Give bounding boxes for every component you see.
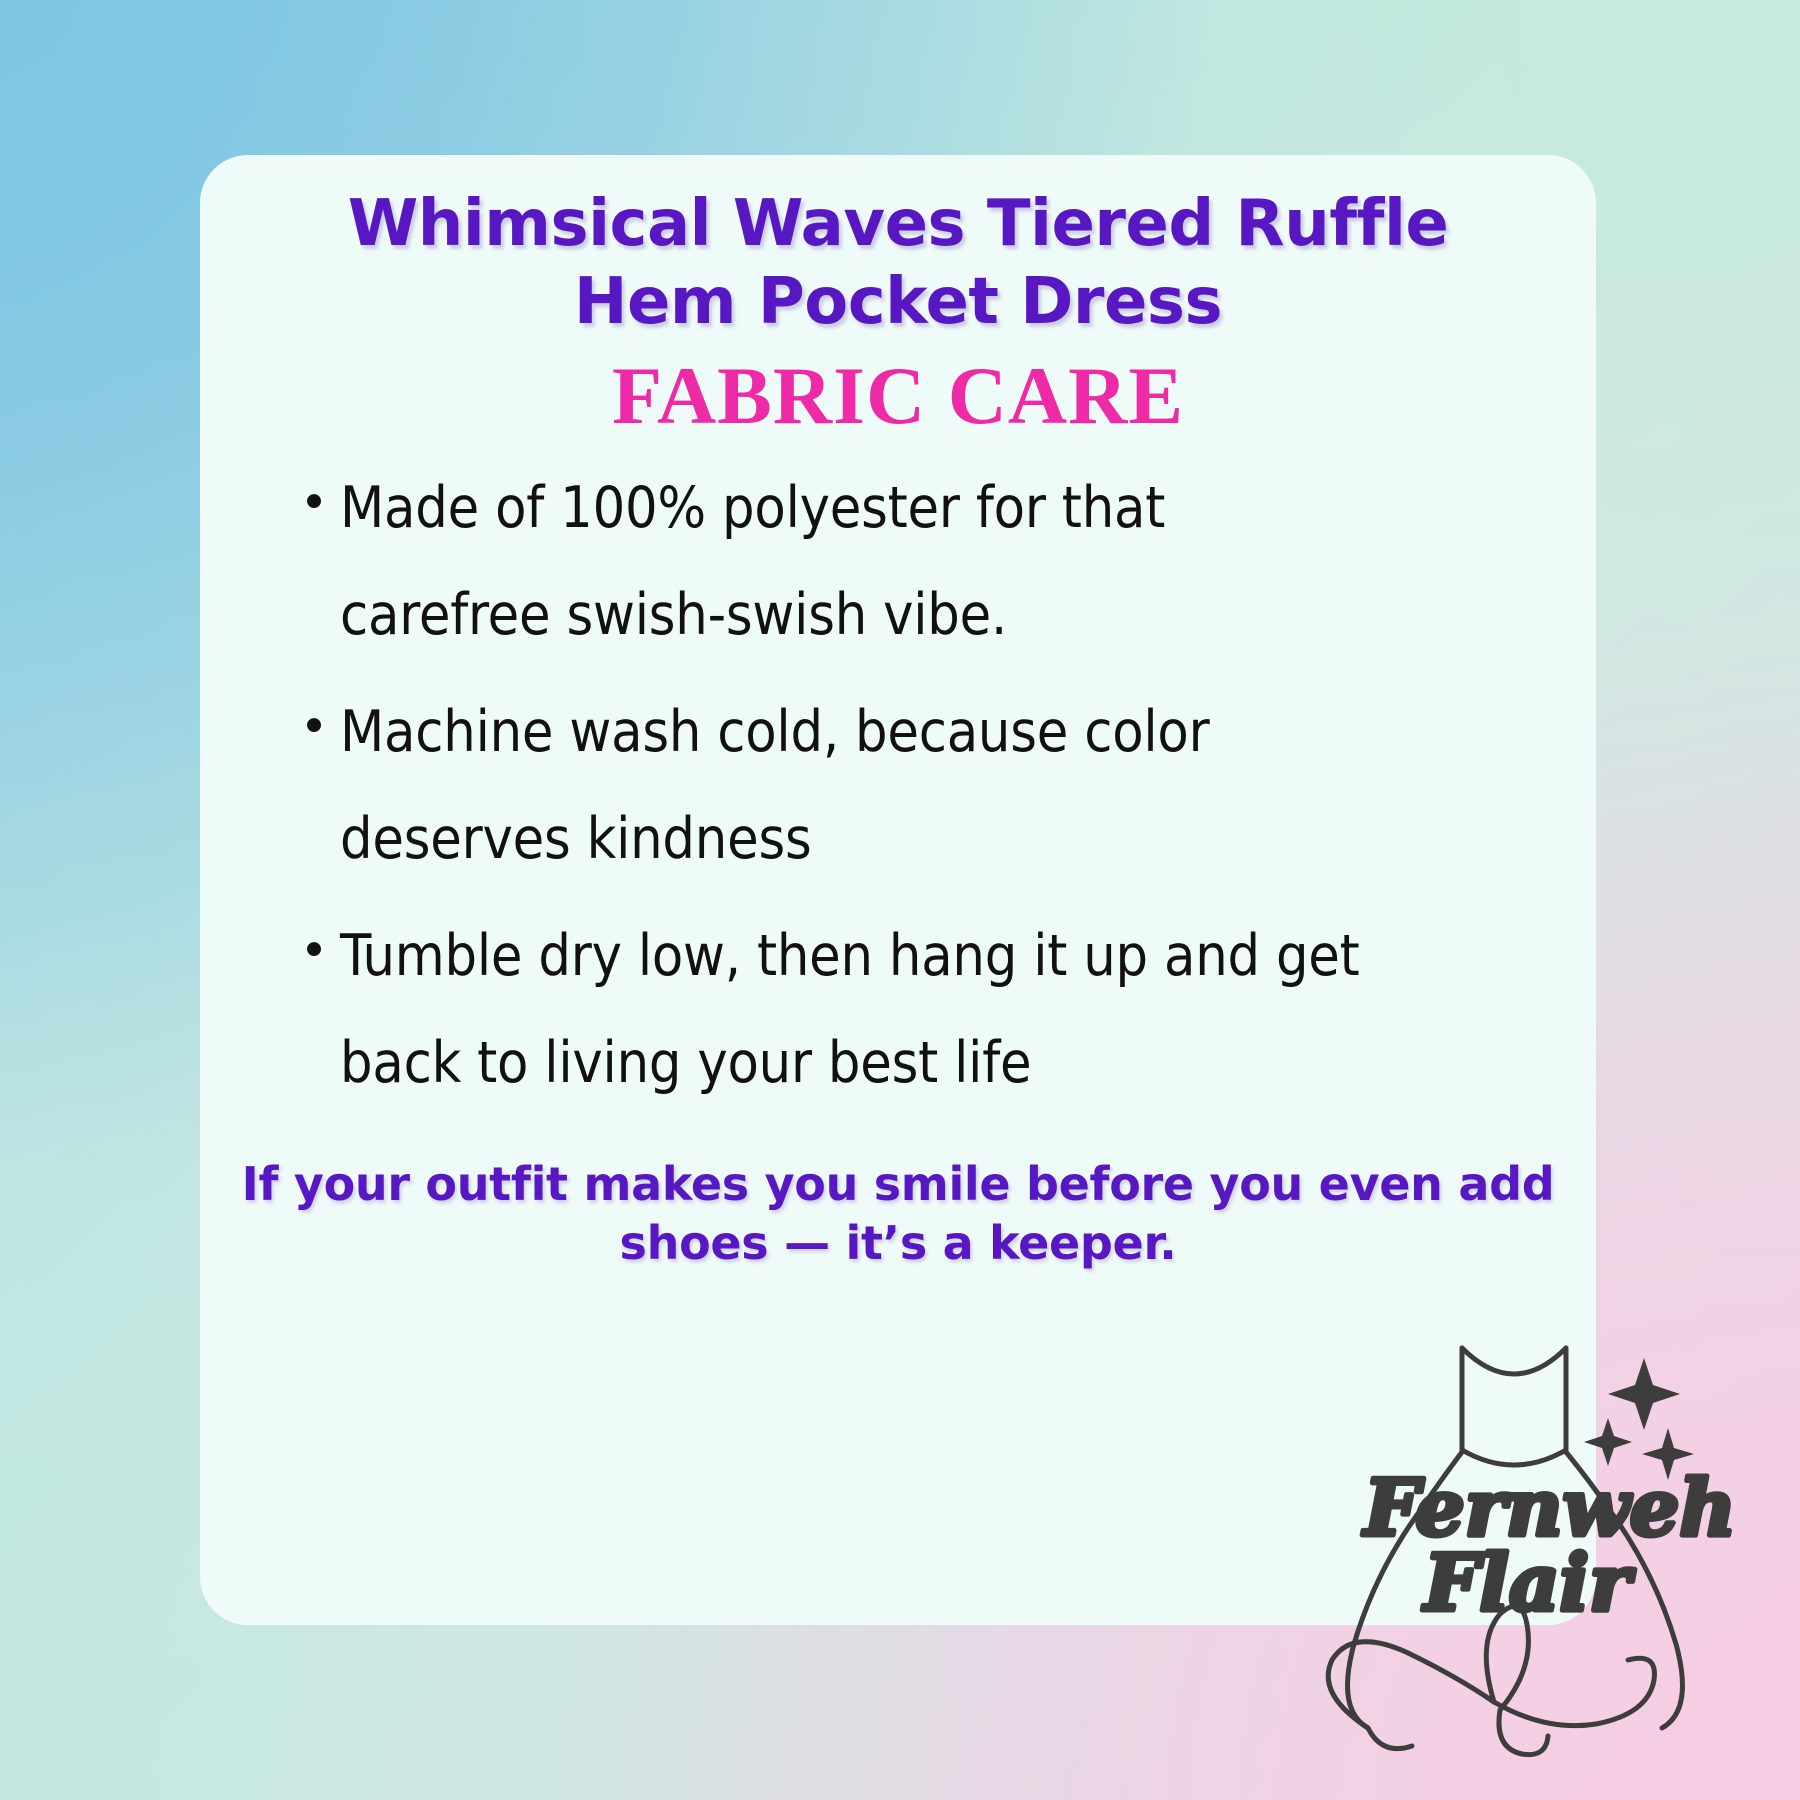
poster-canvas: Whimsical Waves Tiered Ruffle Hem Pocket… [0, 0, 1800, 1800]
sparkle-icon [1584, 1358, 1694, 1480]
list-item: • Machine wash cold, because color deser… [288, 679, 1518, 893]
section-heading-fabric-care: FABRIC CARE [280, 355, 1516, 437]
logo-text-line-two: Flair [1422, 1538, 1635, 1629]
list-item-text: Tumble dry low, then hang it up and get … [340, 903, 1360, 1117]
list-item-text: Made of 100% polyester for that carefree… [340, 455, 1360, 669]
fabric-care-list: • Made of 100% polyester for that carefr… [288, 455, 1518, 1127]
brand-logo: Fernweh Flair [1256, 1240, 1756, 1760]
bullet-dot-icon: • [288, 903, 340, 999]
list-item: • Made of 100% polyester for that carefr… [288, 455, 1518, 669]
list-item-text: Machine wash cold, because color deserve… [340, 679, 1360, 893]
page-title: Whimsical Waves Tiered Ruffle Hem Pocket… [280, 185, 1516, 341]
dress-bodice-icon [1462, 1348, 1566, 1465]
list-item: • Tumble dry low, then hang it up and ge… [288, 903, 1518, 1117]
bullet-dot-icon: • [288, 679, 340, 775]
bullet-dot-icon: • [288, 455, 340, 551]
